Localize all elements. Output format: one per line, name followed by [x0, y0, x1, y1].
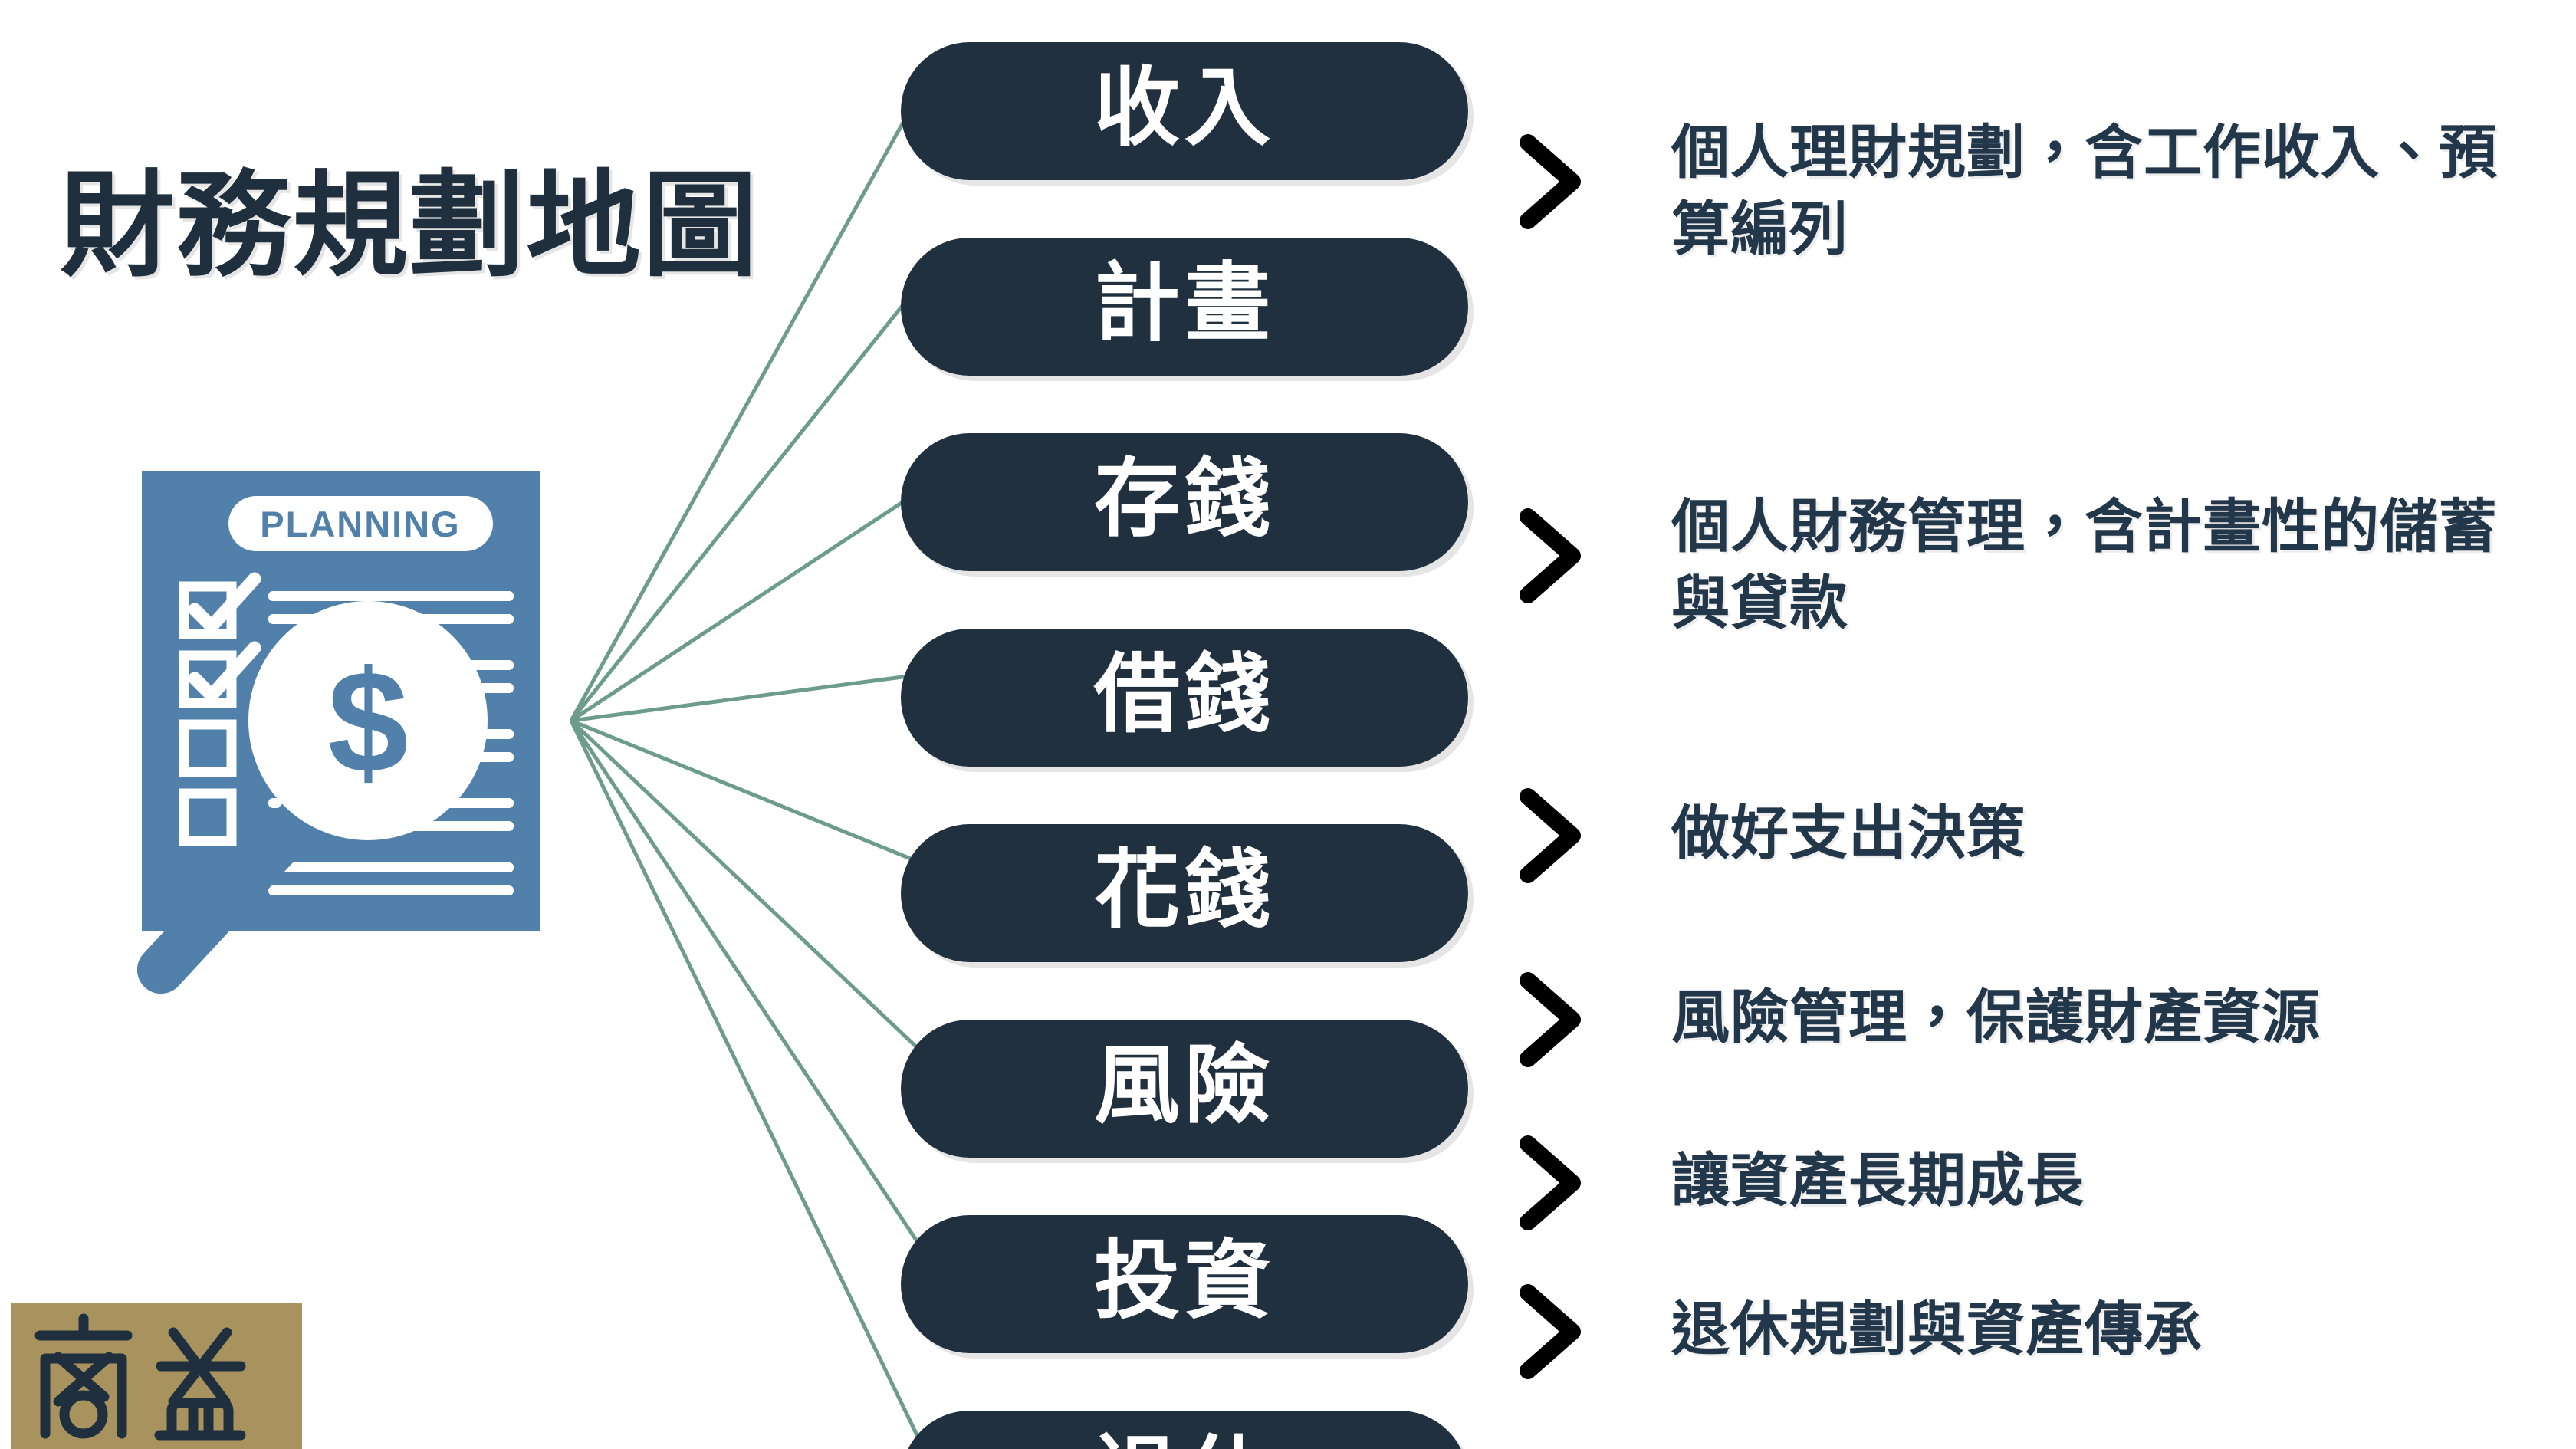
node-label: 存錢	[1094, 456, 1275, 542]
planning-clipboard-illustration: PLANNING	[115, 464, 606, 1046]
node-label: 花錢	[1094, 847, 1275, 933]
slide-canvas: 財務規劃地圖 PLANNING	[0, 0, 2576, 1449]
connector-save	[571, 491, 920, 721]
connector-retire	[571, 721, 920, 1441]
brand-logo	[11, 1303, 302, 1449]
logo-char2-stroke-dish	[172, 1403, 228, 1432]
node-label: 計畫	[1094, 261, 1275, 347]
node-pill-income[interactable]: 收入	[901, 42, 1468, 180]
chevron-right-icon	[1516, 970, 1586, 1069]
connector-spend	[571, 721, 920, 863]
node-pill-invest[interactable]: 投資	[901, 1215, 1468, 1353]
page-title: 財務規劃地圖	[60, 166, 826, 287]
connector-risk	[571, 721, 920, 1050]
description-risk: 風險管理，保護財產資源	[1671, 980, 2538, 1056]
chevron-right-icon	[1516, 506, 1586, 606]
node-label: 風險	[1094, 1043, 1275, 1129]
node-label: 收入	[1094, 65, 1275, 151]
chevron-right-icon	[1516, 786, 1586, 886]
description-spend: 做好支出決策	[1671, 796, 2538, 872]
chevron-right-icon	[1516, 1282, 1586, 1382]
planning-badge-label: PLANNING	[260, 504, 460, 544]
description-retire: 退休規劃與資產傳承	[1671, 1292, 2538, 1368]
node-pill-risk[interactable]: 風險	[901, 1020, 1468, 1158]
connector-plan	[571, 284, 920, 721]
line-5b	[268, 886, 514, 895]
node-label: 借錢	[1094, 652, 1275, 738]
logo-char1-stroke-circle	[64, 1395, 103, 1434]
dollar-symbol: $	[327, 641, 409, 803]
description-income-plan: 個人理財規劃，含工作收入、預算編列	[1671, 115, 2538, 269]
node-label: 退休	[1094, 1434, 1275, 1449]
node-label: 投資	[1094, 1238, 1275, 1324]
node-pill-plan[interactable]: 計畫	[901, 238, 1468, 376]
chevron-right-icon	[1516, 132, 1586, 232]
connector-invest	[571, 721, 920, 1246]
description-save-borrow: 個人財務管理，含計畫性的儲蓄與貸款	[1671, 489, 2538, 643]
description-invest: 讓資產長期成長	[1671, 1143, 2538, 1220]
chevron-right-icon	[1516, 1133, 1586, 1233]
connector-borrow	[571, 675, 920, 721]
line-5a	[268, 863, 514, 872]
node-pill-spend[interactable]: 花錢	[901, 824, 1468, 962]
line-1a	[268, 591, 514, 601]
node-pill-borrow[interactable]: 借錢	[901, 629, 1468, 767]
node-pill-retire[interactable]: 退休	[901, 1411, 1468, 1449]
node-pill-save[interactable]: 存錢	[901, 433, 1468, 571]
